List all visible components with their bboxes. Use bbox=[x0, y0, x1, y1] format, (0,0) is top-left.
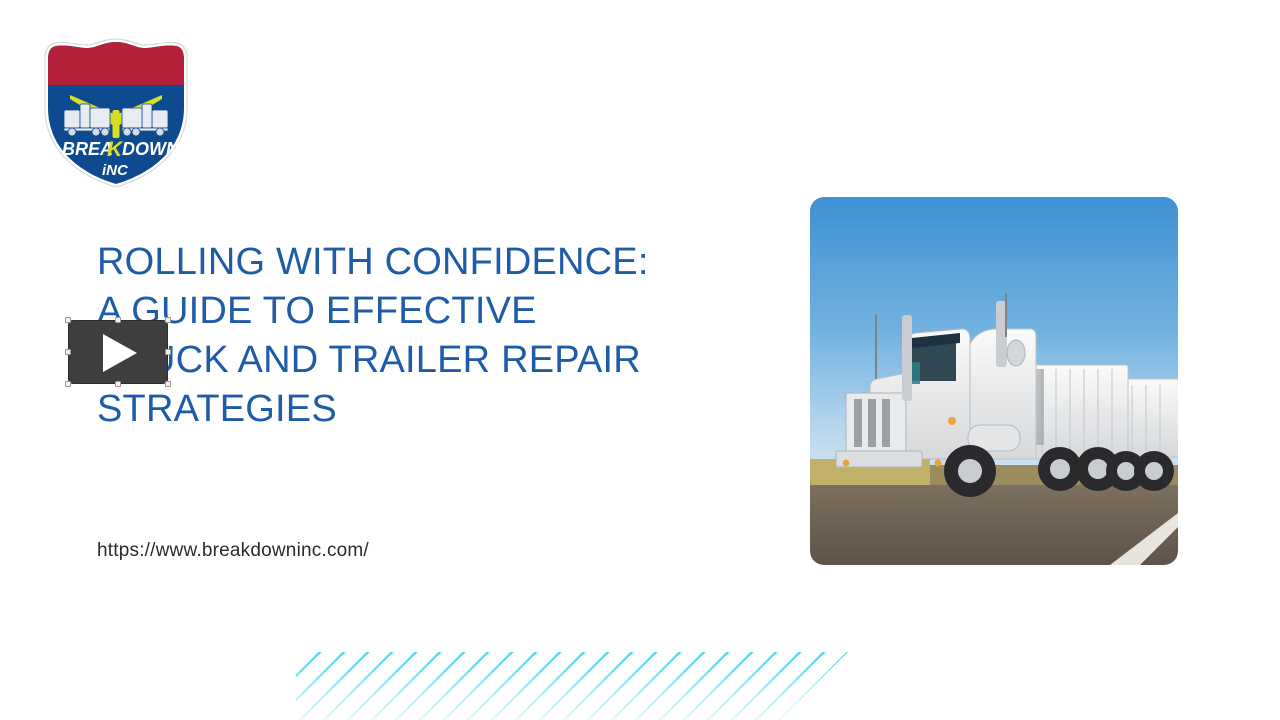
photo-marker-light-2 bbox=[843, 460, 850, 467]
logo-wordmark-part2: DOWN bbox=[122, 139, 180, 159]
photo-mirror bbox=[1007, 340, 1025, 366]
semi-truck-highway-photo bbox=[810, 197, 1178, 565]
photo-road bbox=[810, 485, 1178, 565]
logo-wordmark: BREA K DOWN iNC bbox=[62, 138, 180, 179]
selection-handle-top-right[interactable] bbox=[165, 317, 171, 323]
selection-handle-top-center[interactable] bbox=[115, 317, 121, 323]
selection-handle-middle-left[interactable] bbox=[65, 349, 71, 355]
page-title: Rolling with confidence: A guide to effe… bbox=[97, 238, 677, 434]
selection-handle-top-left[interactable] bbox=[65, 317, 71, 323]
video-frame[interactable] bbox=[68, 320, 168, 384]
photo-grille-bars bbox=[854, 399, 890, 447]
breakdown-inc-logo: BREA K DOWN iNC bbox=[44, 38, 188, 188]
video-play-overlay[interactable] bbox=[68, 320, 168, 384]
presentation-slide: BREA K DOWN iNC Rolling with confidence:… bbox=[0, 0, 1280, 720]
photo-exhaust-left bbox=[902, 315, 912, 401]
website-url[interactable]: https://www.breakdowninc.com/ bbox=[97, 538, 369, 564]
logo-wordmark-part1: BREA bbox=[62, 139, 113, 159]
selection-handle-bottom-left[interactable] bbox=[65, 381, 71, 387]
play-triangle-icon[interactable] bbox=[103, 334, 137, 372]
title-block: Rolling with confidence: A guide to effe… bbox=[97, 238, 677, 434]
selection-handle-middle-right[interactable] bbox=[165, 349, 171, 355]
logo-subtext: iNC bbox=[102, 162, 129, 179]
photo-marker-light-3 bbox=[935, 460, 942, 467]
selection-handle-bottom-center[interactable] bbox=[115, 381, 121, 387]
photo-marker-light-1 bbox=[948, 417, 956, 425]
diagonal-stripes-decoration bbox=[296, 644, 856, 720]
stripe-group bbox=[296, 644, 856, 720]
selection-handle-bottom-right[interactable] bbox=[165, 381, 171, 387]
photo-trailer-rear bbox=[1120, 379, 1178, 457]
